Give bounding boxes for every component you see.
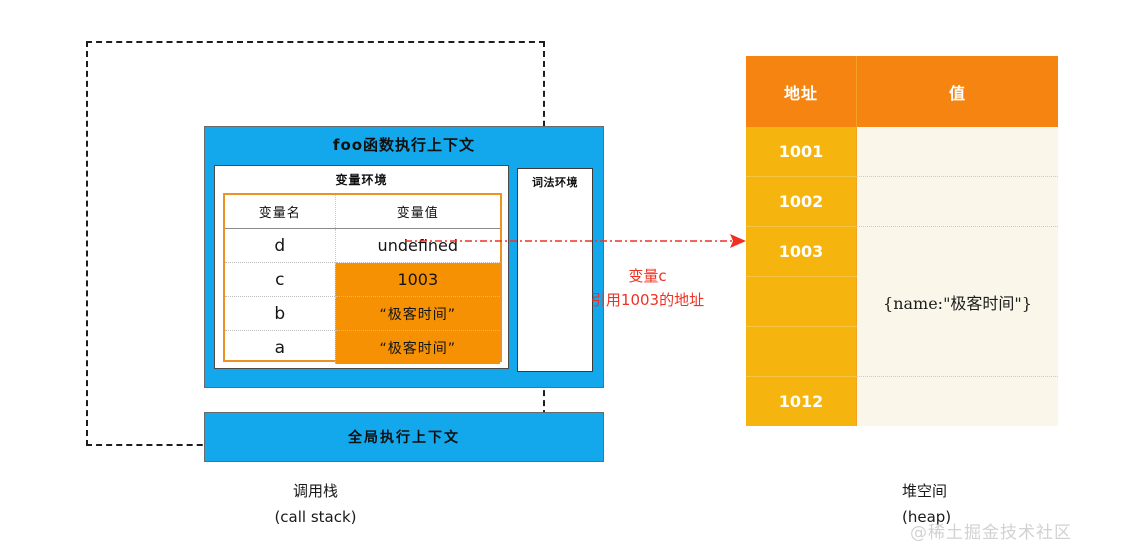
variable-table: 变量名 变量值 d undefined c 1003 b “极客时间” <box>223 193 502 362</box>
variable-environment-title: 变量环境 <box>215 171 508 188</box>
heap-address-1003: 1003 <box>746 227 857 277</box>
variable-value-a: “极客时间” <box>335 331 500 365</box>
heap-address-blank-2 <box>746 327 857 377</box>
variable-row-d: d undefined <box>225 229 500 263</box>
heap-header-row: 地址 值 <box>746 56 1058 127</box>
variable-name-c: c <box>225 263 335 297</box>
heap-value-1002 <box>857 177 1059 227</box>
variable-name-a: a <box>225 331 335 365</box>
reference-arrow-caption-line2: 引用1003的地址 <box>540 288 755 312</box>
call-stack-frame: foo函数执行上下文 变量环境 变量名 变量值 d undefined c 1 <box>86 41 545 446</box>
lexical-environment-title: 词法环境 <box>518 174 592 190</box>
variable-table-header-row: 变量名 变量值 <box>225 195 500 229</box>
heap-row-1003: 1003 {name:"极客时间"} <box>746 227 1058 277</box>
heap-value-1001 <box>857 127 1059 177</box>
reference-arrow-head <box>730 234 746 248</box>
heap-row-1001: 1001 <box>746 127 1058 177</box>
global-execution-context-box: 全局执行上下文 <box>204 412 604 462</box>
heap-value-1012 <box>857 377 1059 427</box>
variable-value-b: “极客时间” <box>335 297 500 331</box>
variable-row-a: a “极客时间” <box>225 331 500 365</box>
heap-table: 地址 值 1001 1002 1003 {name:"极客时间"} 1012 <box>746 56 1058 426</box>
heap-header-value: 值 <box>857 56 1059 127</box>
variable-value-d: undefined <box>335 229 500 263</box>
call-stack-caption-cn: 调用栈 <box>86 478 545 504</box>
reference-arrow-caption: 变量c 引用1003的地址 <box>540 264 755 312</box>
variable-row-b: b “极客时间” <box>225 297 500 331</box>
heap-address-1002: 1002 <box>746 177 857 227</box>
variable-table-header-value: 变量值 <box>335 195 500 229</box>
reference-arrow-caption-line1: 变量c <box>540 264 755 288</box>
variable-name-b: b <box>225 297 335 331</box>
variable-value-c: 1003 <box>335 263 500 297</box>
variable-name-d: d <box>225 229 335 263</box>
heap-address-1001: 1001 <box>746 127 857 177</box>
variable-table-header-name: 变量名 <box>225 195 335 229</box>
watermark: @稀土掘金技术社区 <box>910 518 1072 543</box>
foo-execution-context-box: foo函数执行上下文 变量环境 变量名 变量值 d undefined c 1 <box>204 126 604 388</box>
heap-caption-cn: 堆空间 <box>902 478 1010 504</box>
call-stack-caption-en: (call stack) <box>86 504 545 530</box>
heap-value-object: {name:"极客时间"} <box>857 227 1059 377</box>
heap-row-1002: 1002 <box>746 177 1058 227</box>
variable-row-c: c 1003 <box>225 263 500 297</box>
foo-execution-context-title: foo函数执行上下文 <box>205 134 603 155</box>
heap-address-blank-1 <box>746 277 857 327</box>
heap-address-1012: 1012 <box>746 377 857 427</box>
global-execution-context-label: 全局执行上下文 <box>348 427 460 447</box>
heap-header-address: 地址 <box>746 56 857 127</box>
variable-environment-panel: 变量环境 变量名 变量值 d undefined c 1003 <box>214 165 509 369</box>
call-stack-caption: 调用栈 (call stack) <box>86 478 545 530</box>
heap-row-1012: 1012 <box>746 377 1058 427</box>
